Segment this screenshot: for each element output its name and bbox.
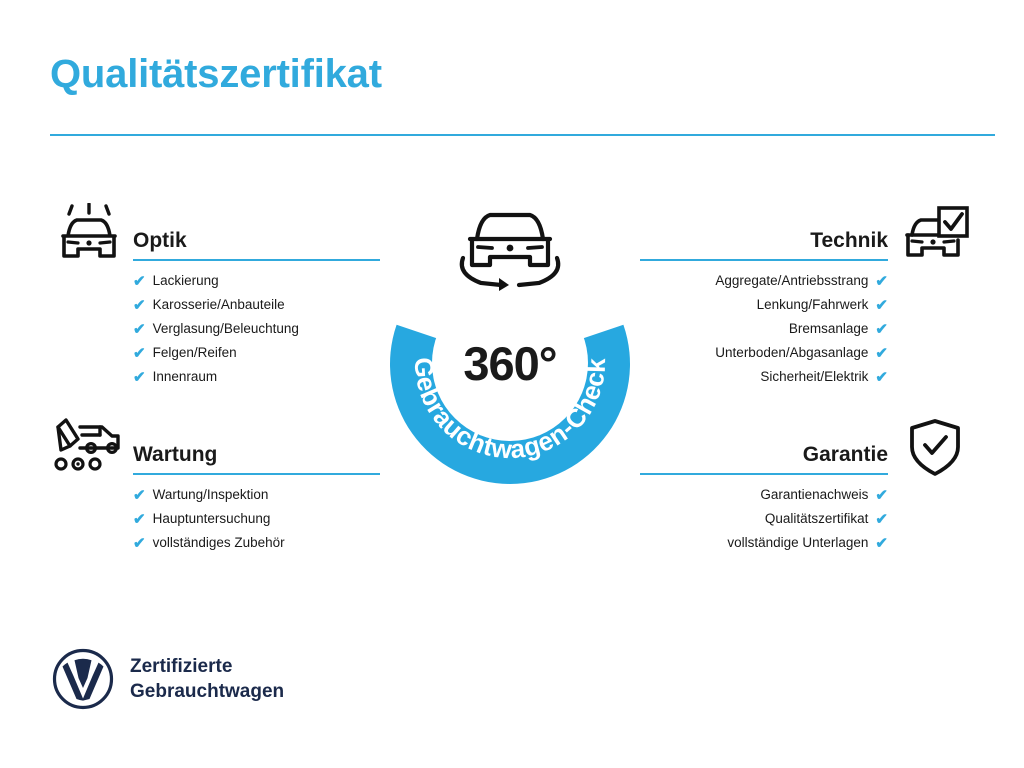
list-item-label: vollständige Unterlagen — [727, 531, 868, 555]
list-item-label: Bremsanlage — [789, 317, 869, 341]
check-icon: ✔ — [875, 346, 888, 361]
list-item: Qualitätszertifikat✔ — [640, 507, 974, 531]
list-item-label: Hauptuntersuchung — [153, 507, 271, 531]
section-header: Garantie — [640, 417, 974, 483]
check-icon: ✔ — [133, 322, 146, 337]
checklist-wartung: ✔Wartung/Inspektion ✔Hauptuntersuchung ✔… — [50, 483, 380, 555]
check-icon: ✔ — [875, 512, 888, 527]
list-item: Bremsanlage✔ — [640, 317, 974, 341]
list-item: ✔Innenraum — [50, 365, 380, 389]
section-underline — [133, 473, 380, 475]
check-icon: ✔ — [133, 274, 146, 289]
list-item: Lenkung/Fahrwerk✔ — [640, 293, 974, 317]
list-item: Sicherheit/Elektrik✔ — [640, 365, 974, 389]
shield-check-icon — [896, 417, 974, 479]
section-technik: Technik Aggregate/Antriebsstrang✔ Lenkun… — [640, 203, 974, 389]
footer-line-2: Gebrauchtwagen — [130, 679, 284, 704]
check-icon: ✔ — [875, 370, 888, 385]
list-item-label: Sicherheit/Elektrik — [760, 365, 868, 389]
list-item: vollständige Unterlagen✔ — [640, 531, 974, 555]
check-icon: ✔ — [875, 298, 888, 313]
pencil-car-service-icon — [50, 417, 128, 479]
section-title: Wartung — [133, 443, 217, 467]
page-title: Qualitätszertifikat — [50, 52, 382, 97]
checklist-technik: Aggregate/Antriebsstrang✔ Lenkung/Fahrwe… — [640, 269, 974, 389]
section-underline — [640, 259, 888, 261]
check-icon: ✔ — [133, 536, 146, 551]
list-item: Aggregate/Antriebsstrang✔ — [640, 269, 974, 293]
vw-logo-icon — [52, 648, 114, 710]
check-icon: ✔ — [875, 488, 888, 503]
section-title: Technik — [810, 229, 888, 253]
list-item-label: Felgen/Reifen — [153, 341, 237, 365]
badge-360-gebrauchtwagen-check: Gebrauchtwagen-Check 360° — [385, 238, 635, 488]
list-item: ✔Wartung/Inspektion — [50, 483, 380, 507]
list-item-label: Innenraum — [153, 365, 218, 389]
list-item: Unterboden/Abgasanlage✔ — [640, 341, 974, 365]
check-icon: ✔ — [133, 488, 146, 503]
list-item-label: Lackierung — [153, 269, 219, 293]
section-wartung: Wartung ✔Wartung/Inspektion ✔Hauptunters… — [50, 417, 380, 555]
check-icon: ✔ — [133, 370, 146, 385]
check-icon: ✔ — [133, 346, 146, 361]
section-underline — [640, 473, 888, 475]
list-item: Garantienachweis✔ — [640, 483, 974, 507]
list-item-label: vollständiges Zubehör — [153, 531, 285, 555]
list-item: ✔Lackierung — [50, 269, 380, 293]
section-header: Technik — [640, 203, 974, 269]
footer-text: Zertifizierte Gebrauchtwagen — [130, 654, 284, 704]
check-icon: ✔ — [875, 536, 888, 551]
check-icon: ✔ — [875, 322, 888, 337]
checklist-optik: ✔Lackierung ✔Karosserie/Anbauteile ✔Verg… — [50, 269, 380, 389]
section-underline — [133, 259, 380, 261]
car-checkbox-icon — [896, 203, 974, 265]
check-icon: ✔ — [133, 512, 146, 527]
list-item-label: Aggregate/Antriebsstrang — [715, 269, 868, 293]
check-icon: ✔ — [875, 274, 888, 289]
section-title: Optik — [133, 229, 187, 253]
list-item-label: Lenkung/Fahrwerk — [757, 293, 869, 317]
car-shine-icon — [50, 203, 128, 265]
list-item: ✔Verglasung/Beleuchtung — [50, 317, 380, 341]
checklist-garantie: Garantienachweis✔ Qualitätszertifikat✔ v… — [640, 483, 974, 555]
list-item-label: Karosserie/Anbauteile — [153, 293, 285, 317]
list-item-label: Qualitätszertifikat — [765, 507, 869, 531]
list-item-label: Wartung/Inspektion — [153, 483, 269, 507]
list-item: ✔Hauptuntersuchung — [50, 507, 380, 531]
section-header: Optik — [50, 203, 380, 269]
car-rotate-icon — [445, 192, 575, 292]
list-item-label: Unterboden/Abgasanlage — [715, 341, 868, 365]
check-icon: ✔ — [133, 298, 146, 313]
footer-brand: Zertifizierte Gebrauchtwagen — [52, 648, 284, 710]
list-item: ✔Felgen/Reifen — [50, 341, 380, 365]
list-item: ✔vollständiges Zubehör — [50, 531, 380, 555]
section-title: Garantie — [803, 443, 888, 467]
footer-line-1: Zertifizierte — [130, 654, 284, 679]
list-item-label: Garantienachweis — [760, 483, 868, 507]
list-item: ✔Karosserie/Anbauteile — [50, 293, 380, 317]
title-divider — [50, 134, 995, 136]
section-garantie: Garantie Garantienachweis✔ Qualitätszert… — [640, 417, 974, 555]
section-header: Wartung — [50, 417, 380, 483]
list-item-label: Verglasung/Beleuchtung — [153, 317, 299, 341]
section-optik: Optik ✔Lackierung ✔Karosserie/Anbauteile… — [50, 203, 380, 389]
